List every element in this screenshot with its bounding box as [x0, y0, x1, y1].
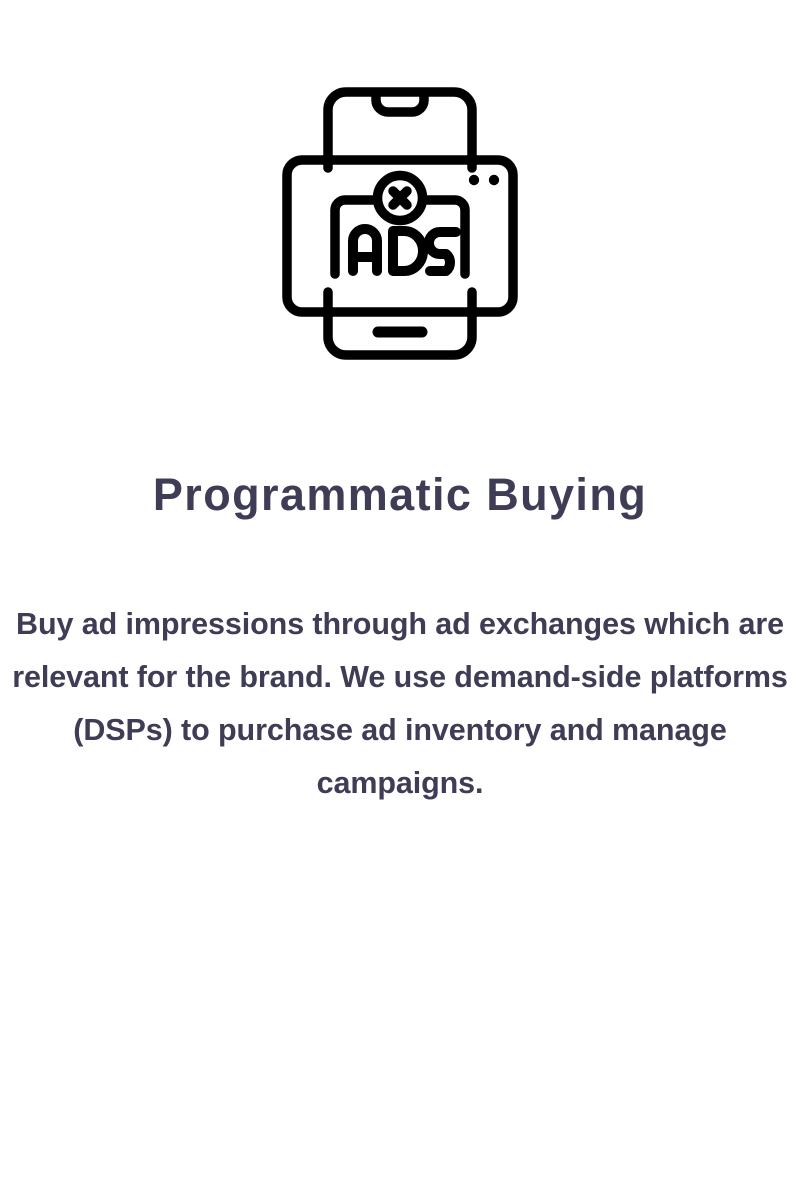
- browser-dot-right: [489, 175, 499, 185]
- programmatic-ads-phone-icon: [270, 60, 530, 400]
- description-text: Buy ad impressions through ad exchanges …: [0, 598, 800, 810]
- feature-card: Programmatic Buying Buy ad impressions t…: [0, 0, 800, 1200]
- browser-dot-left: [469, 175, 479, 185]
- ads-label: [353, 229, 456, 271]
- close-badge-x: [393, 191, 407, 205]
- icon-container: [0, 60, 800, 410]
- page-title: Programmatic Buying: [0, 468, 800, 521]
- phone-frame-bottom: [328, 292, 472, 355]
